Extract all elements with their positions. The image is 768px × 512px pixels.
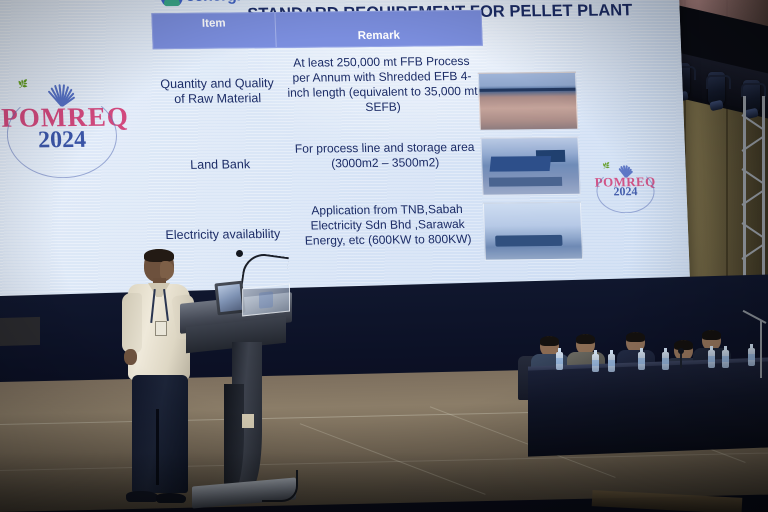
cell-item: Land Bank — [156, 134, 284, 197]
photo-land-clearing — [478, 72, 578, 131]
water-bottle — [662, 352, 669, 370]
conference-scene: cenergi STANDARD REQUIREMENT FOR PELLET … — [0, 0, 768, 512]
table-header-row: Item Remark — [151, 10, 482, 49]
presentation-slide: cenergi STANDARD REQUIREMENT FOR PELLET … — [0, 0, 691, 317]
cenergi-wordmark: cenergi — [185, 0, 241, 6]
floor-shadow — [0, 452, 768, 512]
pomreq-logo-right: 🌿 POMREQ 2024 — [593, 165, 656, 198]
moving-head-light — [708, 72, 725, 106]
water-bottle — [608, 354, 615, 372]
cell-item: Quantity and Quality of Raw Material — [153, 48, 282, 135]
cell-remark: For process line and storage area (3000m… — [282, 132, 488, 196]
presenter-arm — [122, 293, 142, 353]
table-row: Land Bank For process line and storage a… — [156, 132, 488, 197]
presenter-hand — [124, 349, 137, 365]
column-header-item: Item — [152, 13, 276, 48]
slide-photo-strip — [478, 72, 582, 268]
water-bottle — [638, 352, 645, 370]
mic-stand — [760, 320, 762, 378]
column-header-remark: Remark — [278, 29, 480, 43]
water-bottle — [708, 350, 715, 368]
water-bottle — [592, 354, 599, 372]
panel-table — [528, 361, 768, 456]
photo-site-landscape — [483, 202, 583, 261]
backdrop-step — [0, 317, 40, 346]
laptop[interactable] — [214, 281, 245, 316]
photo-pellet-plant-building — [480, 137, 580, 196]
name-badge — [155, 321, 167, 336]
microphone-icon — [236, 250, 243, 257]
palm-frond-icon — [593, 165, 655, 178]
cell-remark: Application from TNB,Sabah Electricity S… — [284, 194, 491, 274]
panelist-table-group — [512, 310, 768, 470]
cenergi-logo: cenergi — [160, 0, 241, 8]
water-bottle — [556, 352, 563, 370]
projection-screen: cenergi STANDARD REQUIREMENT FOR PELLET … — [0, 0, 691, 317]
water-bottle — [722, 350, 729, 368]
water-bottle — [748, 348, 755, 366]
panel-microphone — [680, 352, 682, 368]
requirements-table: Item Remark Quantity and Quality of Raw … — [151, 10, 491, 275]
palm-frond-icon — [0, 84, 121, 107]
cell-remark: At least 250,000 mt FFB Process per Annu… — [279, 46, 486, 134]
table-row: Quantity and Quality of Raw Material At … — [153, 46, 486, 135]
cenergi-mark-icon — [160, 0, 183, 8]
pomreq-logo-left: 🌿 POMREQ 2024 — [0, 84, 123, 153]
lectern-acrylic-sign — [242, 283, 290, 316]
